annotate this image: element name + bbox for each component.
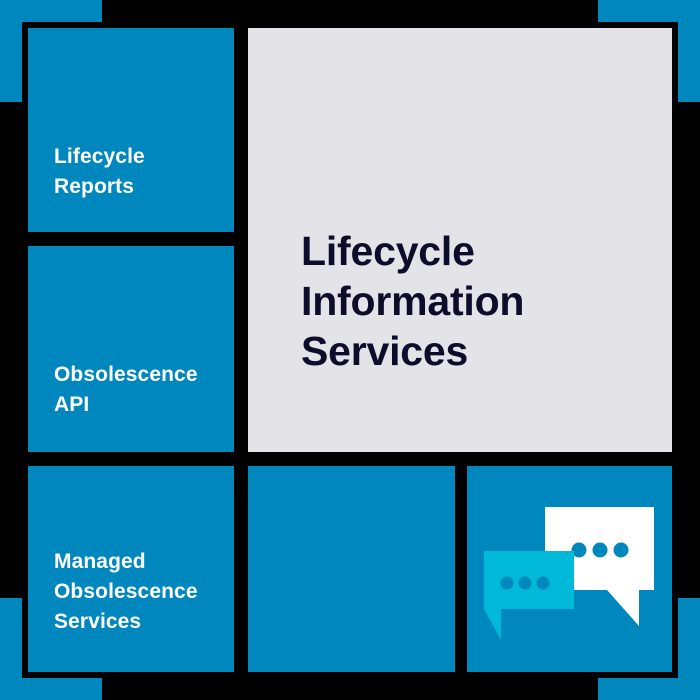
bracket-arm-vertical xyxy=(0,598,22,700)
tile-label-line-1: Obsolescence xyxy=(54,360,222,390)
page-title-line-1: Lifecycle xyxy=(301,226,654,276)
bracket-arm-vertical xyxy=(678,0,700,102)
chat-dot xyxy=(519,577,532,590)
tile-lifecycle-reports-label: Lifecycle Reports xyxy=(54,142,222,202)
chat-dot xyxy=(501,577,514,590)
chat-bubbles-icon xyxy=(467,466,672,672)
tile-blank-spacer xyxy=(248,466,455,672)
page-title-line-3: Services xyxy=(301,326,654,376)
tile-managed-obsolescence-services-label: Managed Obsolescence Services xyxy=(54,547,222,636)
bracket-arm-vertical xyxy=(678,598,700,700)
chat-dot xyxy=(593,543,608,558)
page-title: Lifecycle Information Services xyxy=(301,226,654,376)
tile-lifecycle-reports[interactable]: Lifecycle Reports xyxy=(28,28,234,232)
chat-dot xyxy=(614,543,629,558)
tile-chat-bubbles[interactable] xyxy=(467,466,672,672)
panel-lifecycle-information-services: Lifecycle Information Services xyxy=(248,28,672,452)
tile-obsolescence-api[interactable]: Obsolescence API xyxy=(28,246,234,452)
page-title-line-2: Information xyxy=(301,276,654,326)
lifecycle-information-services-graphic: Lifecycle Reports Obsolescence API Manag… xyxy=(0,0,700,700)
tile-obsolescence-api-label: Obsolescence API xyxy=(54,360,222,420)
tile-managed-obsolescence-services[interactable]: Managed Obsolescence Services xyxy=(28,466,234,672)
tile-label-line-2: API xyxy=(54,390,222,420)
chat-dot xyxy=(537,577,550,590)
tile-label-line-2: Reports xyxy=(54,172,222,202)
tile-label-line-1: Managed xyxy=(54,547,222,577)
tile-label-line-1: Lifecycle xyxy=(54,142,222,172)
tile-label-line-2: Obsolescence xyxy=(54,577,222,607)
chat-bubble-front xyxy=(484,551,574,640)
tile-label-line-3: Services xyxy=(54,607,222,637)
bracket-arm-vertical xyxy=(0,0,22,102)
